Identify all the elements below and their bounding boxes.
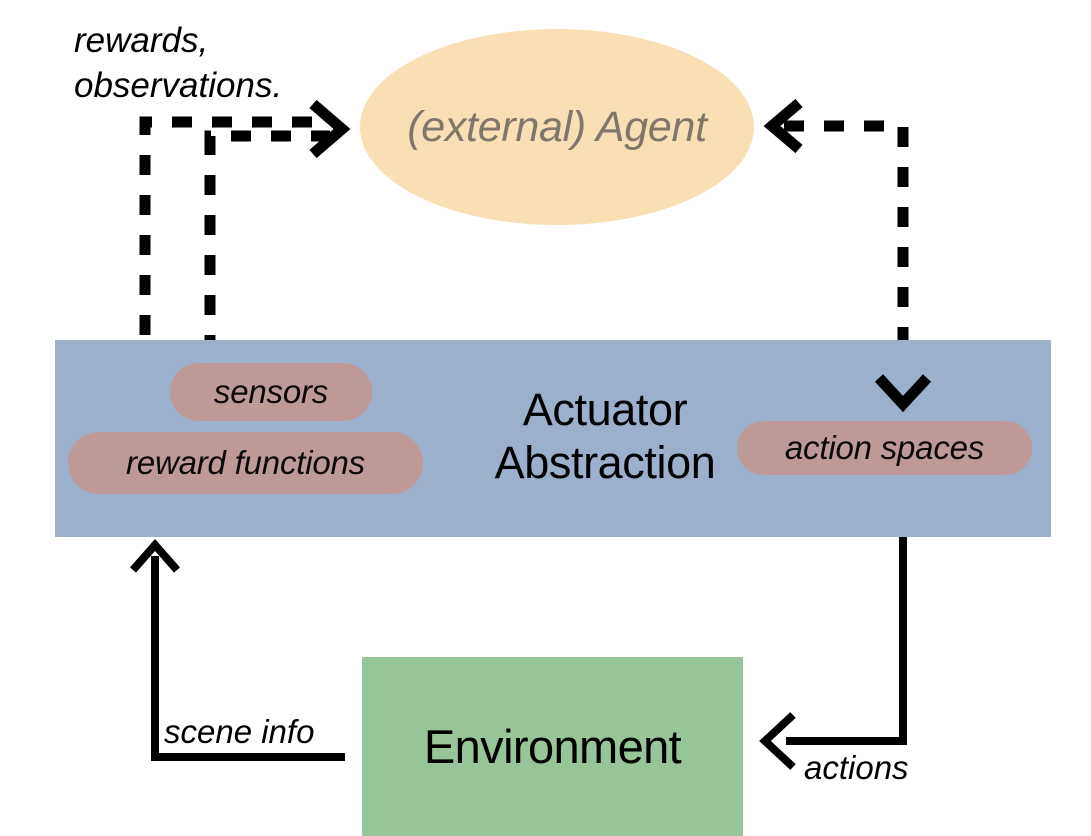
environment-node[interactable]: Environment (362, 657, 743, 836)
pill-sensors-label: sensors (214, 373, 328, 411)
pill-reward-functions[interactable]: reward functions (68, 432, 423, 494)
label-actions: actions (804, 749, 909, 787)
arrowhead-actions-icon (765, 715, 793, 767)
arrowhead-to-agent-icon (313, 104, 342, 154)
label-scene-info: scene info (164, 713, 314, 751)
pill-reward-functions-label: reward functions (126, 444, 365, 482)
pill-sensors[interactable]: sensors (170, 363, 372, 421)
arrowhead-from-agent-icon (772, 103, 799, 149)
environment-label: Environment (424, 719, 681, 774)
diagram-canvas: Actuator Abstraction sensors reward func… (0, 0, 1091, 836)
pill-action-spaces-label: action spaces (785, 429, 984, 467)
external-agent-node[interactable]: (external) Agent (360, 29, 754, 225)
actuator-abstraction-label: Actuator Abstraction (470, 383, 740, 489)
pill-action-spaces[interactable]: action spaces (737, 421, 1032, 475)
external-agent-label: (external) Agent (407, 103, 707, 152)
arrowhead-scene-info-icon (133, 545, 177, 570)
label-rewards-observations: rewards, observations. (74, 19, 282, 109)
